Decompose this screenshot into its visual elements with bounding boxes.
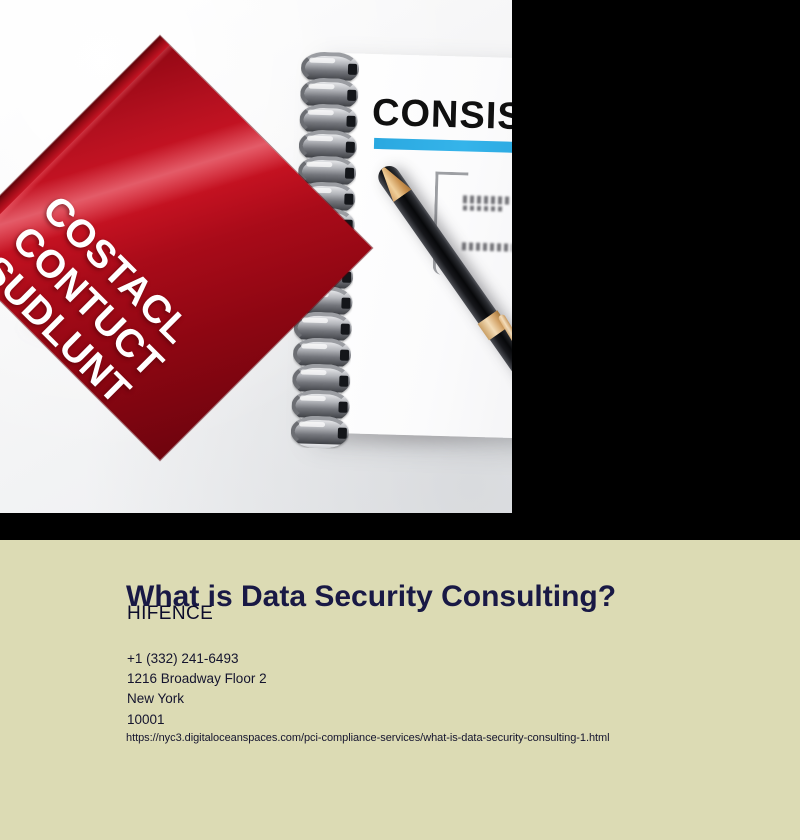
contact-postal-code: 10001	[127, 710, 267, 730]
contact-block: +1 (332) 241-6493 1216 Broadway Floor 2 …	[127, 649, 267, 730]
source-url-link[interactable]: https://nyc3.digitaloceanspaces.com/pci-…	[126, 732, 610, 744]
contact-city: New York	[127, 689, 267, 709]
notebook-blurred-text-line	[463, 195, 511, 204]
brand-name: HIFENCE	[127, 603, 213, 625]
hero-media-band: CONSIS COSTACL CONTUCT SUDLUNT	[0, 0, 800, 540]
hero-photo: CONSIS COSTACL CONTUCT SUDLUNT	[0, 0, 512, 513]
notebook-heading-text: CONSIS	[371, 92, 512, 139]
notebook-blurred-text-line	[463, 205, 503, 211]
info-panel: What is Data Security Consulting? HIFENC…	[0, 540, 800, 840]
contact-address-line1: 1216 Broadway Floor 2	[127, 669, 267, 689]
contact-phone[interactable]: +1 (332) 241-6493	[127, 649, 267, 669]
spiral-coil	[290, 415, 349, 449]
notebook-blurred-text-line	[462, 242, 512, 251]
